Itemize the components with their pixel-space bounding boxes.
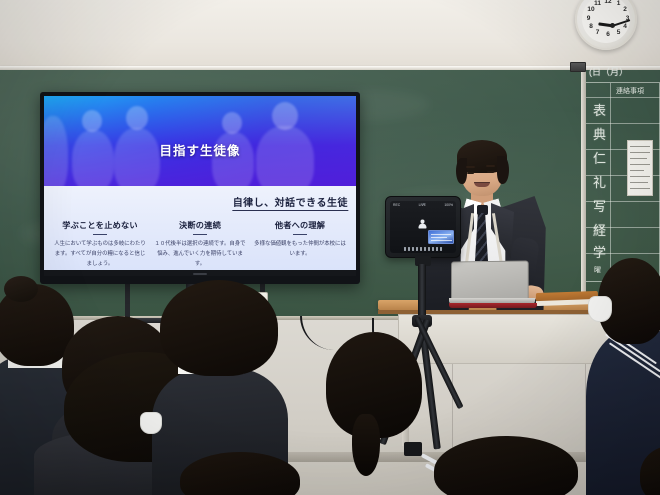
video-preview-thumbnail[interactable] [428, 230, 454, 244]
slide-column: 学ぶことを止めない 人生において学ぶものは多岐にわたります。すべてが自分の糧にな… [52, 219, 148, 269]
classroom-scene: 12 1 2 3 4 5 6 7 8 9 10 11 (日（月） [0, 0, 660, 495]
tablet-control-bar[interactable] [390, 245, 456, 253]
ponytail [352, 414, 380, 476]
chalk-character: 写 [593, 196, 606, 215]
slide-column: 決断の連続 １０代後半は選択の連続です。自身で悩み、進んでいく力を期待しています… [152, 219, 248, 269]
clock-center-pin [610, 23, 615, 28]
battery-label: 100% [444, 203, 453, 207]
clock-numeral: 12 [604, 0, 613, 6]
slide-column-text: １０代後半は選択の連続です。自身で悩み、進んでいく力を期待しています。 [152, 239, 248, 269]
control-button[interactable] [404, 247, 406, 250]
schedule-notice-label: 連絡事項 [616, 86, 644, 96]
presenter-hair-side [497, 156, 509, 184]
wall-speaker [570, 62, 586, 72]
control-button[interactable] [420, 247, 422, 250]
slide: 目指す生徒像 自律し、対話できる生徒 学ぶことを止めない 人生において学ぶものは… [44, 96, 356, 276]
control-button[interactable] [424, 247, 426, 250]
face-mask [140, 412, 162, 434]
slide-column-rule [193, 234, 207, 235]
slide-column-rule [293, 234, 307, 235]
laptop-stand [449, 303, 537, 308]
chalk-character: 学 [593, 242, 606, 261]
schedule-column-label: 曜 [594, 265, 601, 275]
display-screen: 目指す生徒像 自律し、対話できる生徒 学ぶことを止めない 人生において学ぶものは… [44, 96, 356, 276]
clock-numeral: 5 [614, 28, 623, 37]
control-button[interactable] [436, 247, 438, 250]
clock-numeral: 9 [584, 14, 593, 23]
slide-subtitle: 自律し、対話できる生徒 [233, 194, 348, 211]
presenter-mouth [474, 182, 490, 187]
control-button[interactable] [416, 247, 418, 250]
board-divider-rail [581, 70, 586, 320]
slide-column-heading: 決断の連続 [152, 219, 248, 231]
clock-face: 12 1 2 3 4 5 6 7 8 9 10 11 [582, 0, 630, 43]
slide-columns: 学ぶことを止めない 人生において学ぶものは多岐にわたります。すべてが自分の糧にな… [52, 219, 348, 269]
presenter-hair-side [456, 158, 467, 184]
control-button[interactable] [432, 247, 434, 250]
slide-column-text: 多様な価値観をもった仲間が本校にはいます。 [252, 239, 348, 259]
clock-numeral: 8 [587, 22, 596, 31]
record-status-label: REC [393, 203, 400, 207]
slide-title: 目指す生徒像 [44, 140, 356, 159]
tablet-status-bar: REC LIVE 100% [390, 201, 456, 208]
chalk-character: 表 [593, 100, 606, 119]
control-button[interactable] [412, 247, 414, 250]
chalk-character: 礼 [593, 172, 606, 191]
posted-notice-sheet [627, 140, 653, 196]
participant-avatar-icon [419, 219, 428, 228]
chalk-character: 仁 [593, 148, 606, 167]
schedule-date-header: (日（月） [585, 62, 660, 80]
upper-wall [0, 0, 660, 70]
tablet-screen[interactable]: REC LIVE 100% [390, 201, 456, 253]
clock-numeral: 6 [604, 30, 613, 39]
control-button[interactable] [440, 247, 442, 250]
tablet-device[interactable]: REC LIVE 100% [385, 196, 461, 258]
slide-column-heading: 学ぶことを止めない [52, 219, 148, 231]
live-status-label: LIVE [419, 203, 426, 207]
control-button[interactable] [428, 247, 430, 250]
slide-column-rule [93, 234, 107, 235]
chalk-character: 経 [593, 220, 606, 239]
chalk-character: 典 [593, 124, 606, 143]
presentation-display[interactable]: 目指す生徒像 自律し、対話できる生徒 学ぶことを止めない 人生において学ぶものは… [40, 92, 360, 284]
slide-column-text: 人生において学ぶものは多岐にわたります。すべてが自分の糧になると信じましょう。 [52, 239, 148, 269]
tripod-center-post [418, 264, 426, 318]
slide-column-heading: 他者への理解 [252, 219, 348, 231]
display-logo [193, 273, 207, 275]
slide-column: 他者への理解 多様な価値観をもった仲間が本校にはいます。 [252, 219, 348, 269]
clock-numeral: 11 [593, 0, 602, 8]
slide-body: 自律し、対話できる生徒 学ぶことを止めない 人生において学ぶものは多岐にわたりま… [44, 186, 356, 276]
control-button[interactable] [408, 247, 410, 250]
face-mask [588, 296, 612, 322]
